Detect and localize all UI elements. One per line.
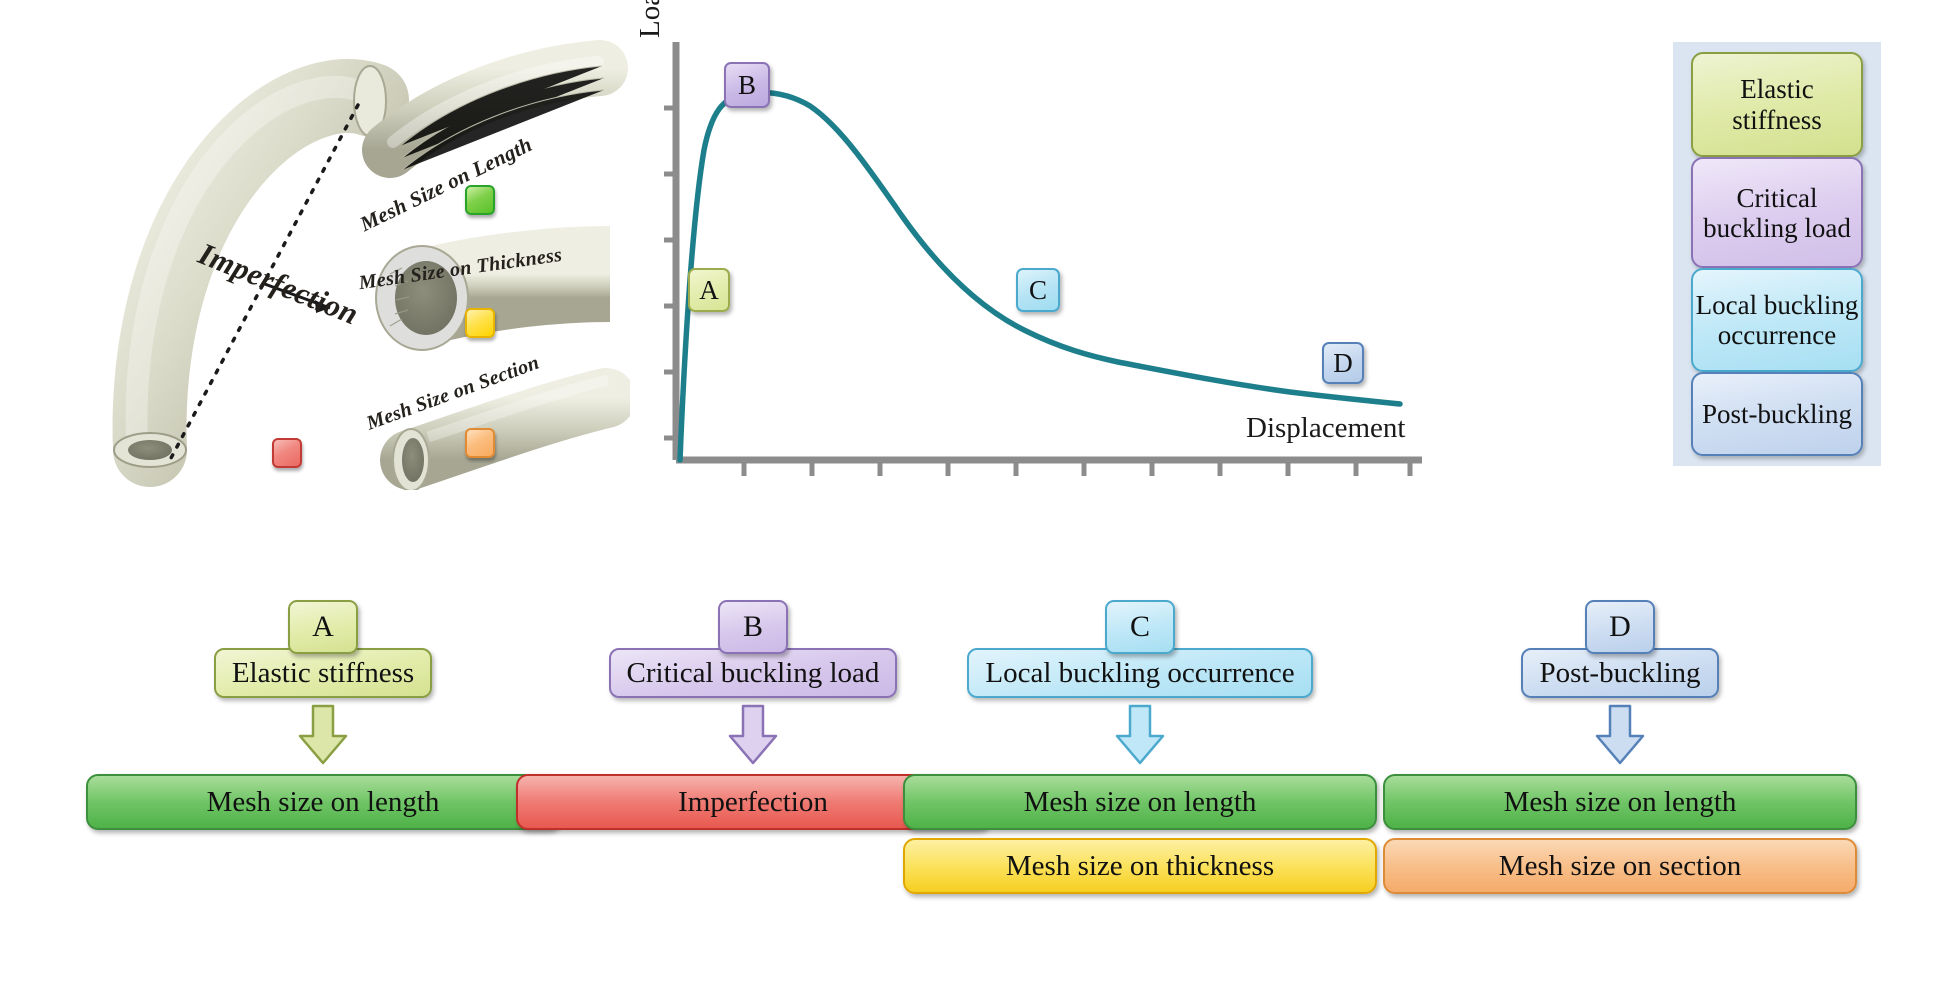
legend-item-post-buckling: Post-buckling <box>1691 372 1863 456</box>
chart-marker-c: C <box>1016 268 1060 312</box>
legend-item-label: Local buckling occurrence <box>1693 290 1861 350</box>
flow-column-c: C Local buckling occurrence Mesh size on… <box>905 600 1375 894</box>
swatch-mesh-size-on-thickness <box>465 308 495 338</box>
flow-column-d: D Post-buckling Mesh size on length Mesh… <box>1385 600 1855 894</box>
down-arrow-icon <box>1112 704 1168 766</box>
flow-result-label: Mesh size on thickness <box>1006 850 1274 883</box>
legend-item-local-buckling-occurrence: Local buckling occurrence <box>1691 268 1863 371</box>
legend-item-elastic-stiffness: Elastic stiffness <box>1691 52 1863 157</box>
down-arrow-icon <box>725 704 781 766</box>
flow-letter-b: B <box>718 600 788 654</box>
down-arrow-icon <box>1592 704 1648 766</box>
flow-letter-a: A <box>288 600 358 654</box>
flow-result-label: Mesh size on section <box>1499 850 1741 883</box>
stage-legend-panel: Elastic stiffness Critical buckling load… <box>1673 42 1881 466</box>
swatch-imperfection <box>272 438 302 468</box>
flow-result-label: Mesh size on length <box>1024 786 1257 819</box>
flow-stage-d-label: Post-buckling <box>1539 657 1700 690</box>
flow-stage-c: Local buckling occurrence <box>967 648 1312 698</box>
flow-stage-d: Post-buckling <box>1521 648 1718 698</box>
flow-result-a-1: Mesh size on length <box>86 774 560 830</box>
y-axis-title: Load <box>634 0 667 38</box>
flow-result-d-1: Mesh size on length <box>1383 774 1857 830</box>
load-displacement-chart: Load Displacement A B C D <box>640 30 1440 490</box>
legend-item-label: Elastic stiffness <box>1693 74 1861 134</box>
legend-item-label: Critical buckling load <box>1693 183 1861 243</box>
flow-result-label: Mesh size on length <box>1504 786 1737 819</box>
flow-letter-a-label: A <box>312 610 334 644</box>
down-arrow-icon <box>295 704 351 766</box>
flow-result-c-2: Mesh size on thickness <box>903 838 1377 894</box>
flow-letter-c-label: C <box>1130 610 1150 644</box>
legend-item-critical-buckling-load: Critical buckling load <box>1691 157 1863 268</box>
stage-factor-flowchart: A Elastic stiffness Mesh size on length … <box>0 600 1947 993</box>
flow-stage-b-label: Critical buckling load <box>627 657 880 690</box>
swatch-mesh-size-on-section <box>465 428 495 458</box>
legend-item-label: Post-buckling <box>1702 399 1852 429</box>
flow-result-d-2: Mesh size on section <box>1383 838 1857 894</box>
flow-result-label: Imperfection <box>678 786 828 819</box>
flow-column-a: A Elastic stiffness Mesh size on length <box>88 600 558 830</box>
flow-stage-a-label: Elastic stiffness <box>232 657 414 690</box>
flow-result-label: Mesh size on length <box>207 786 440 819</box>
top-row: Imperfection Mesh Size on Length Mesh Si… <box>0 0 1947 600</box>
flow-letter-d-label: D <box>1609 610 1631 644</box>
tube-illustration-panel: Imperfection Mesh Size on Length Mesh Si… <box>90 30 630 490</box>
chart-marker-d-label: D <box>1333 350 1353 377</box>
chart-marker-d: D <box>1322 342 1364 384</box>
flow-letter-c: C <box>1105 600 1175 654</box>
flow-letter-d: D <box>1585 600 1655 654</box>
flow-stage-a: Elastic stiffness <box>214 648 432 698</box>
swatch-mesh-size-on-length <box>465 185 495 215</box>
flow-letter-b-label: B <box>743 610 763 644</box>
chart-marker-b: B <box>724 62 770 108</box>
x-axis-title: Displacement <box>1246 412 1405 445</box>
flow-stage-c-label: Local buckling occurrence <box>985 657 1294 690</box>
chart-marker-a-label: A <box>699 277 719 304</box>
chart-marker-b-label: B <box>738 72 756 99</box>
chart-marker-a: A <box>688 268 730 312</box>
chart-marker-c-label: C <box>1029 277 1047 304</box>
flow-stage-b: Critical buckling load <box>609 648 898 698</box>
flow-result-c-1: Mesh size on length <box>903 774 1377 830</box>
